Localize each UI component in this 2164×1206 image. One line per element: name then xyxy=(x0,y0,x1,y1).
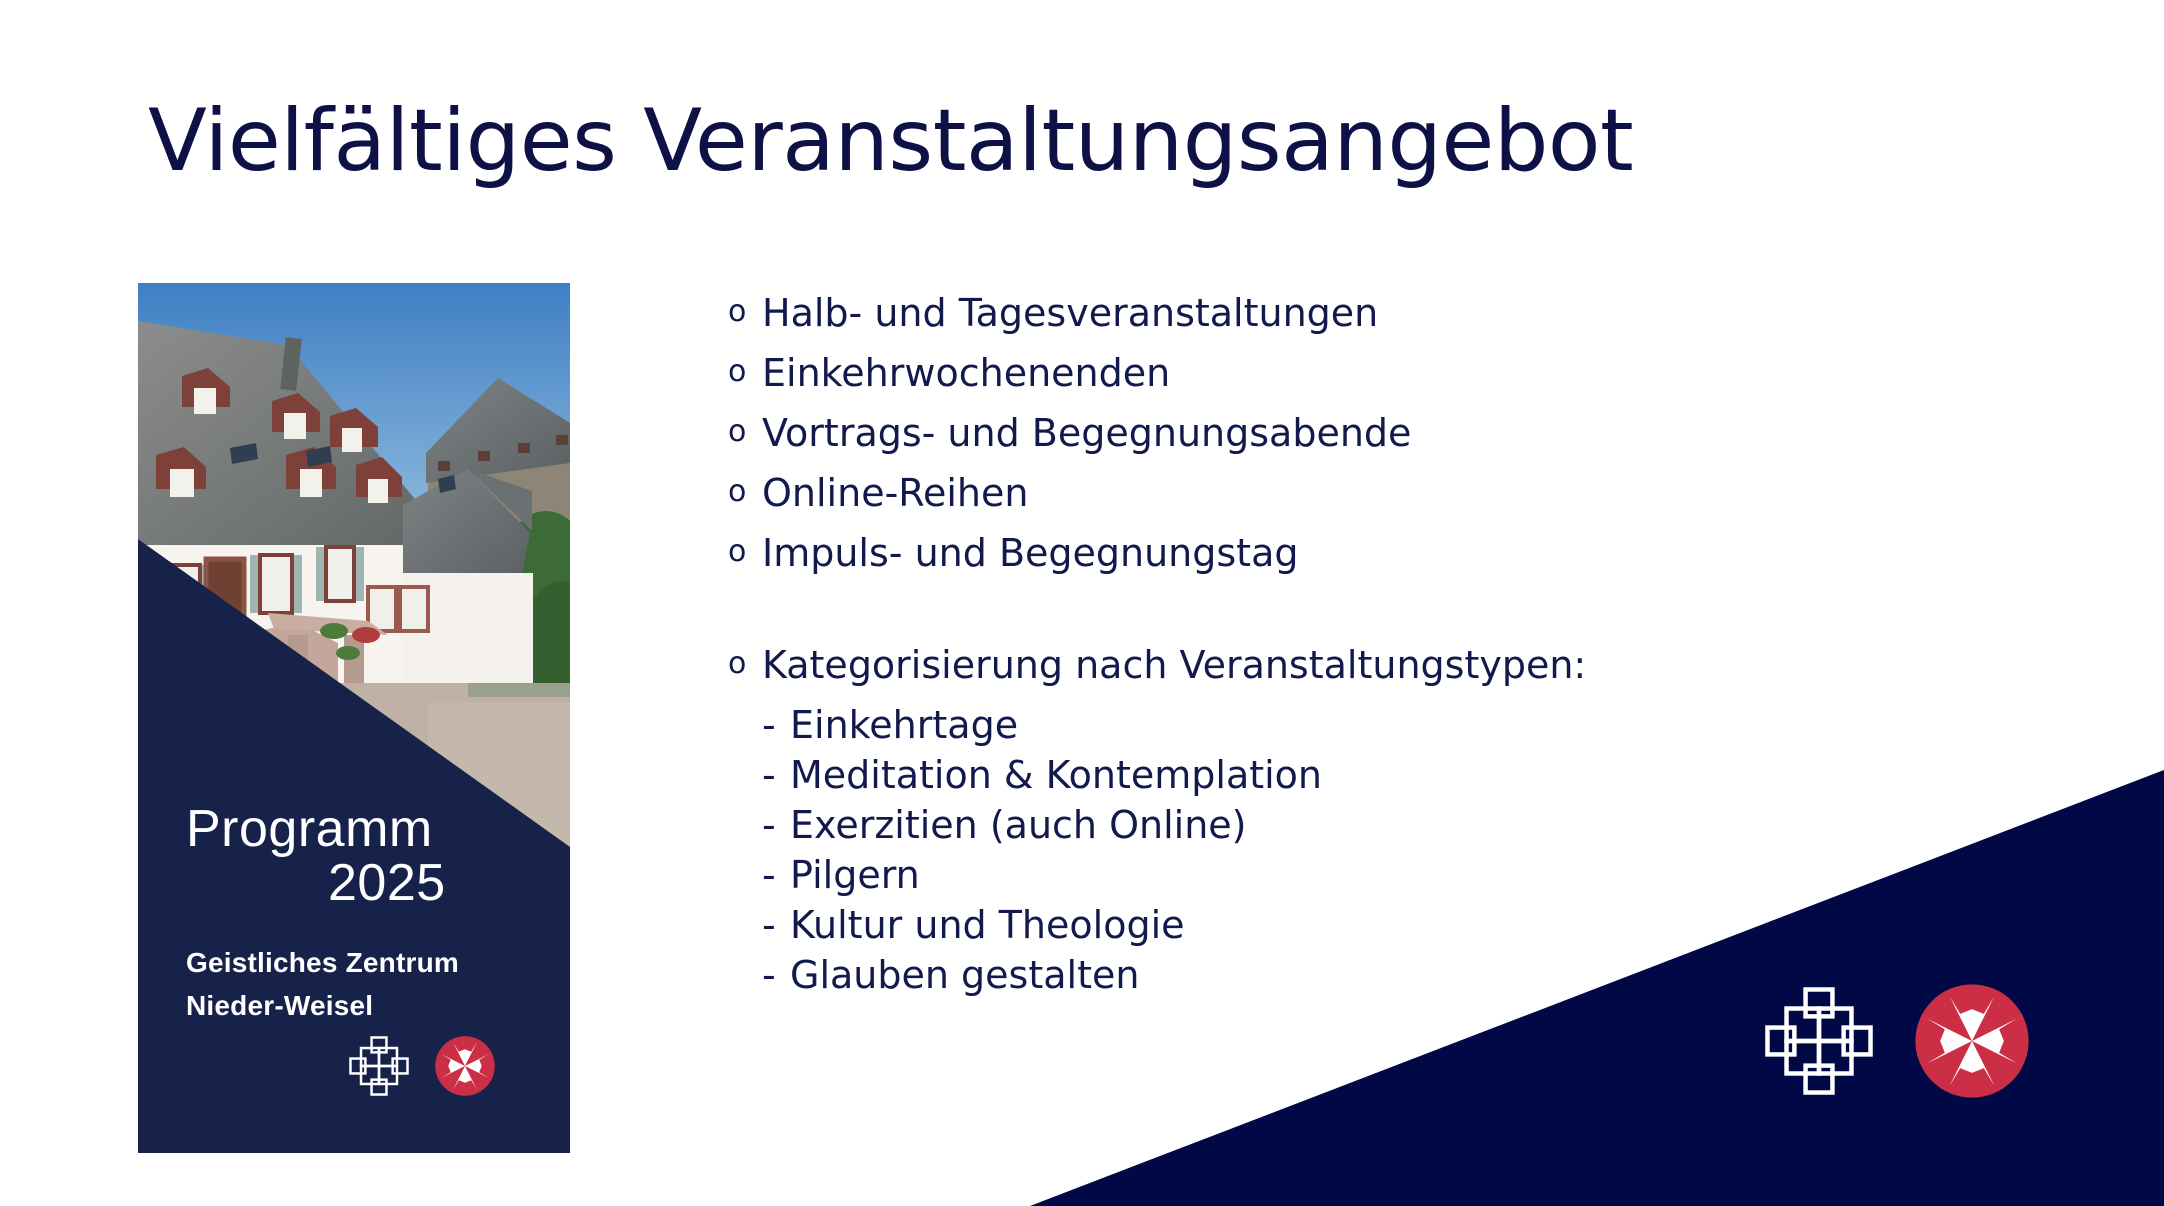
johanniter-square-cross-icon xyxy=(348,1035,410,1097)
brochure-org-line-1: Geistliches Zentrum xyxy=(186,941,546,984)
list-item-label: Einkehrwochenenden xyxy=(762,354,1988,392)
dash-marker-icon: - xyxy=(762,906,790,944)
list-item: o Impuls- und Begegnungstag xyxy=(728,534,1988,572)
dash-marker-icon: - xyxy=(762,956,790,994)
sub-list-item: - Pilgern xyxy=(728,856,1988,894)
sub-list-item-label: Pilgern xyxy=(790,856,1988,894)
bullet-marker-icon: o xyxy=(728,646,762,681)
list-item-label: Kategorisierung nach Veranstaltungstypen… xyxy=(762,646,1988,684)
bullet-marker-icon: o xyxy=(728,534,762,569)
sub-list-item: - Exerzitien (auch Online) xyxy=(728,806,1988,844)
presentation-slide: Vielfältiges Veranstaltungsangebot xyxy=(0,0,2164,1206)
sub-list-item: - Kultur und Theologie xyxy=(728,906,1988,944)
sub-list-item: - Einkehrtage xyxy=(728,706,1988,744)
bullet-marker-icon: o xyxy=(728,474,762,509)
dash-marker-icon: - xyxy=(762,756,790,794)
maltese-cross-icon xyxy=(1913,982,2031,1100)
brochure-org-line-2: Nieder-Weisel xyxy=(186,984,546,1027)
brochure-organization: Geistliches Zentrum Nieder-Weisel xyxy=(186,941,546,1028)
johanniter-square-cross-icon xyxy=(1763,985,1875,1097)
event-offer-list: o Halb- und Tagesveranstaltungen o Einke… xyxy=(728,294,1988,1006)
dash-marker-icon: - xyxy=(762,806,790,844)
list-item-label: Vortrags- und Begegnungsabende xyxy=(762,414,1988,452)
sub-list-item-label: Einkehrtage xyxy=(790,706,1988,744)
brochure-cover: Programm 2025 Geistliches Zentrum Nieder… xyxy=(138,283,570,1153)
sub-list-item-label: Kultur und Theologie xyxy=(790,906,1988,944)
bullet-marker-icon: o xyxy=(728,294,762,329)
sub-list-item: - Meditation & Kontemplation xyxy=(728,756,1988,794)
list-item-categories: o Kategorisierung nach Veranstaltungstyp… xyxy=(728,646,1988,684)
brochure-programm-label: Programm xyxy=(186,803,546,855)
list-spacer xyxy=(728,594,1988,646)
dash-marker-icon: - xyxy=(762,856,790,894)
list-item: o Online-Reihen xyxy=(728,474,1988,512)
page-title: Vielfältiges Veranstaltungsangebot xyxy=(148,96,2048,186)
brochure-text-block: Programm 2025 Geistliches Zentrum Nieder… xyxy=(186,803,546,1028)
sub-list-item-label: Exerzitien (auch Online) xyxy=(790,806,1988,844)
list-item-label: Halb- und Tagesveranstaltungen xyxy=(762,294,1988,332)
list-item: o Halb- und Tagesveranstaltungen xyxy=(728,294,1988,332)
list-item-label: Online-Reihen xyxy=(762,474,1988,512)
dash-marker-icon: - xyxy=(762,706,790,744)
maltese-cross-icon xyxy=(434,1035,496,1097)
sub-list-item-label: Meditation & Kontemplation xyxy=(790,756,1988,794)
corner-logo-group xyxy=(1763,982,2031,1100)
bullet-marker-icon: o xyxy=(728,354,762,389)
bullet-marker-icon: o xyxy=(728,414,762,449)
brochure-year-label: 2025 xyxy=(186,857,546,909)
list-item: o Einkehrwochenenden xyxy=(728,354,1988,392)
list-item: o Vortrags- und Begegnungsabende xyxy=(728,414,1988,452)
brochure-logo-group xyxy=(348,1035,496,1097)
list-item-label: Impuls- und Begegnungstag xyxy=(762,534,1988,572)
